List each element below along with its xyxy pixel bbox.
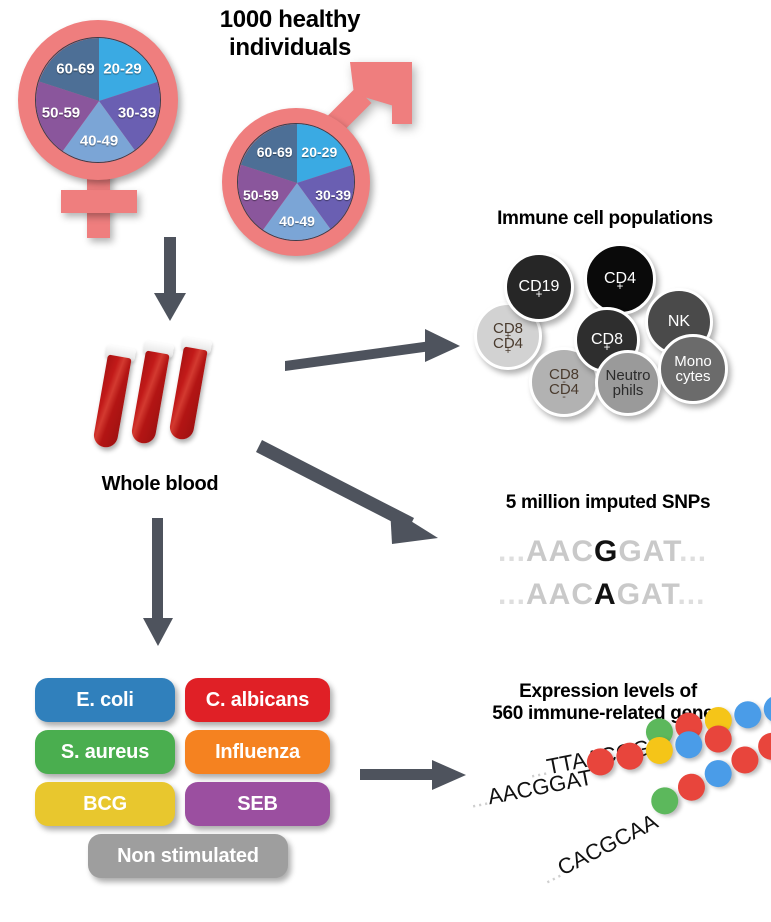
gene-bead <box>761 693 771 725</box>
gene-sequence-bases: CACGCAA <box>553 809 661 881</box>
gene-bead <box>732 698 764 730</box>
gene-strand-3: ...CACGCAA <box>537 809 662 890</box>
gene-strand-cluster: ...TTAACGG...AACGGAT...CACGCAA <box>0 0 771 922</box>
gene-sequence: ...CACGCAA <box>537 809 662 889</box>
